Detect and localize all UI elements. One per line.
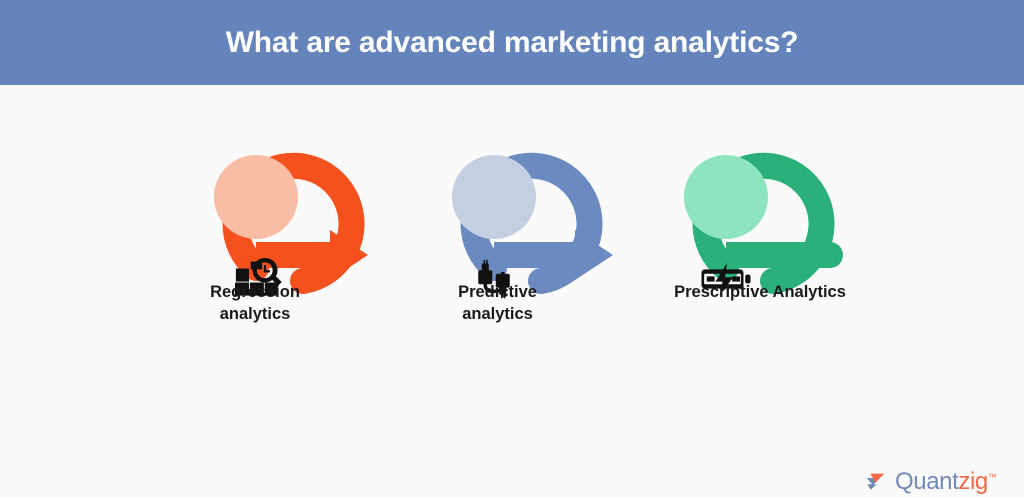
infographic-page: What are advanced marketing analytics? [0, 0, 1024, 447]
logo-text-quant: Quant [895, 468, 958, 495]
quantzig-wordmark: Quantzig™ [895, 468, 996, 496]
inner-circle-predictive [452, 155, 536, 239]
step-label-prescriptive: Prescriptive Analytics [640, 282, 880, 304]
logo-text-zig: zig [958, 468, 987, 495]
step-label-prescriptive-line1: Prescriptive Analytics [640, 282, 880, 304]
step-label-regression-line2: analytics [160, 304, 350, 326]
logo-trademark: ™ [988, 472, 997, 482]
step-label-regression-line1: Regression [160, 282, 350, 304]
step-label-predictive: Predictive analytics [405, 282, 590, 326]
quantzig-logo: Quantzig™ [866, 467, 996, 497]
diagram-stage: Regression analytics Predictive analytic… [0, 85, 1024, 447]
step-label-predictive-line1: Predictive [405, 282, 590, 304]
inner-circle-prescriptive [684, 155, 768, 239]
page-title: What are advanced marketing analytics? [226, 26, 799, 60]
inner-circle-regression [214, 155, 298, 239]
step-label-predictive-line2: analytics [405, 304, 590, 326]
step-label-regression: Regression analytics [160, 282, 350, 326]
quantzig-arrow-logo-icon [866, 471, 892, 493]
header-bar: What are advanced marketing analytics? [0, 0, 1024, 85]
